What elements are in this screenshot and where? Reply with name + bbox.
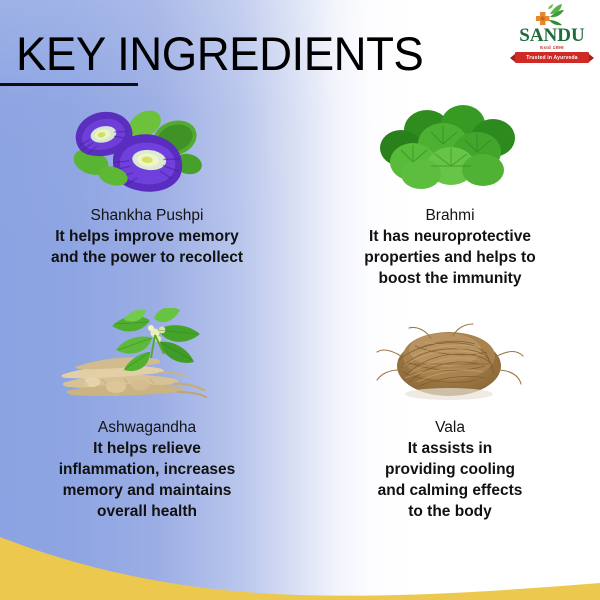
- brand-ribbon: Trusted in Ayurveda: [515, 52, 589, 63]
- ingredient-card-ashwagandha: Ashwagandha It helps relieve inflammatio…: [2, 312, 292, 522]
- bottom-wave-decoration: [0, 520, 600, 600]
- key-ingredients-poster: KEY INGREDIENTS SANDU Estd 1899 Trusted …: [0, 0, 600, 600]
- ingredient-name: Vala: [305, 418, 595, 437]
- description-line: inflammation, increases: [16, 459, 278, 480]
- description-line: It helps improve memory: [16, 226, 278, 247]
- description-line: boost the immunity: [319, 268, 581, 289]
- ingredient-image-vala: [305, 312, 595, 412]
- ingredient-image-brahmi: [305, 100, 595, 200]
- description-line: It assists in: [319, 438, 581, 459]
- ingredient-card-vala: Vala It assists in providing cooling and…: [305, 312, 595, 522]
- brand-logo: SANDU Estd 1899 Trusted in Ayurveda: [512, 4, 592, 58]
- description-line: properties and helps to: [319, 247, 581, 268]
- description-line: memory and maintains: [16, 480, 278, 501]
- brand-leaf-icon: [512, 4, 592, 26]
- ingredient-image-ashwagandha: [2, 312, 292, 412]
- ashwagandha-roots-icon: [54, 308, 240, 412]
- description-line: and the power to recollect: [16, 247, 278, 268]
- ingredient-name: Brahmi: [305, 206, 595, 225]
- ingredient-card-shankha-pushpi: Shankha Pushpi It helps improve memory a…: [2, 100, 292, 268]
- brahmi-leaves-icon: [365, 100, 535, 200]
- brand-tagline: Trusted in Ayurveda: [526, 55, 578, 61]
- butterfly-pea-flowers-icon: [57, 100, 237, 200]
- poster-header: KEY INGREDIENTS SANDU Estd 1899 Trusted …: [0, 0, 600, 100]
- brand-wordmark: SANDU: [512, 26, 592, 45]
- description-line: and calming effects: [319, 480, 581, 501]
- ingredient-image-shankha-pushpi: [2, 100, 292, 200]
- description-line: It helps relieve: [16, 438, 278, 459]
- title-underline: [0, 83, 138, 86]
- description-line: providing cooling: [319, 459, 581, 480]
- description-line: to the body: [319, 501, 581, 522]
- vetiver-root-bundle-icon: [365, 312, 535, 412]
- ingredient-name: Ashwagandha: [2, 418, 292, 437]
- ingredient-card-brahmi: Brahmi It has neuroprotective properties…: [305, 100, 595, 289]
- description-line: It has neuroprotective: [319, 226, 581, 247]
- ingredient-name: Shankha Pushpi: [2, 206, 292, 225]
- ingredient-description: It assists in providing cooling and calm…: [305, 438, 595, 522]
- description-line: overall health: [16, 501, 278, 522]
- page-title: KEY INGREDIENTS: [16, 28, 423, 80]
- ingredient-description: It helps relieve inflammation, increases…: [2, 438, 292, 522]
- ingredient-description: It has neuroprotective properties and he…: [305, 226, 595, 289]
- ingredient-description: It helps improve memory and the power to…: [2, 226, 292, 268]
